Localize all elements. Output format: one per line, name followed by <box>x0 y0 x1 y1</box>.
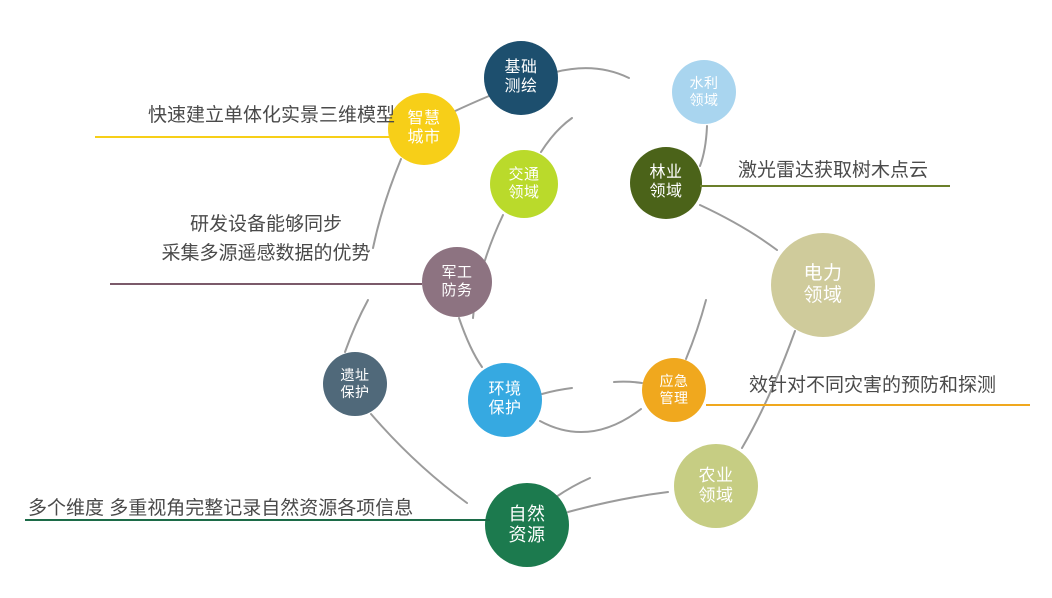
arc-env-right <box>542 388 572 394</box>
callout-text-line: 激光雷达获取树木点云 <box>738 156 928 185</box>
arc-transport-to-basic <box>541 118 572 152</box>
arc-basic-to-smartcity <box>453 96 489 112</box>
node-natural-resources[interactable]: 自然资源 <box>485 483 569 567</box>
arc-forestry-to-power <box>700 205 777 250</box>
arc-emergency-up <box>686 300 706 359</box>
diagram-canvas: 基础测绘水利领域智慧城市交通领域林业领域电力领域军工防务遗址保护环境保护应急管理… <box>0 0 1052 598</box>
natural-resources-callout-rule <box>25 519 490 521</box>
node-label-line: 领域 <box>690 92 719 109</box>
node-label-line: 领域 <box>649 183 682 202</box>
node-label-line: 测绘 <box>504 78 537 97</box>
node-label-line: 环境 <box>488 381 521 400</box>
node-label-line: 领域 <box>699 486 734 506</box>
arc-water-to-forestry <box>700 126 707 166</box>
callout-text-line: 效针对不同灾害的预防和探测 <box>749 371 996 400</box>
smart-city-callout-rule <box>95 136 395 138</box>
node-label-line: 交通 <box>508 166 539 184</box>
military-defense-callout-rule <box>110 283 422 285</box>
forestry-callout-rule <box>700 185 950 187</box>
callout-text-line: 快速建立单体化实景三维模型 <box>95 101 395 130</box>
node-power[interactable]: 电力领域 <box>771 233 875 337</box>
node-smart-city[interactable]: 智慧城市 <box>388 93 460 165</box>
node-label-line: 管理 <box>660 390 689 407</box>
callout-text-line: 研发设备能够同步 <box>110 210 422 239</box>
node-label-line: 农业 <box>699 466 734 486</box>
arc-heritage-to-natres <box>371 414 467 503</box>
node-label-line: 自然 <box>509 504 546 525</box>
arc-natres-up-right <box>556 478 590 497</box>
arc-basic-to-water <box>556 68 629 78</box>
node-label-line: 领域 <box>508 184 539 202</box>
node-label-line: 水利 <box>690 75 719 92</box>
node-label-line: 智慧 <box>407 110 440 129</box>
node-water-conservancy[interactable]: 水利领域 <box>672 60 736 124</box>
node-label-line: 遗址 <box>341 367 370 384</box>
node-environment-protection[interactable]: 环境保护 <box>468 363 542 437</box>
arc-military-to-env <box>459 318 482 367</box>
node-label-line: 基础 <box>504 59 537 78</box>
node-agriculture[interactable]: 农业领域 <box>674 444 758 528</box>
smart-city-callout: 快速建立单体化实景三维模型 <box>95 101 395 130</box>
node-label-line: 应急 <box>660 373 689 390</box>
node-label-line: 保护 <box>488 400 521 419</box>
arc-heritage-up <box>345 300 368 352</box>
node-basic-surveying[interactable]: 基础测绘 <box>484 41 558 115</box>
node-label-line: 电力 <box>803 263 842 285</box>
node-label-line: 保护 <box>341 384 370 401</box>
arc-natres-to-agri <box>568 492 668 512</box>
node-military-defense[interactable]: 军工防务 <box>422 247 492 317</box>
military-defense-callout: 研发设备能够同步采集多源遥感数据的优势 <box>110 210 422 269</box>
emergency-callout-rule <box>706 404 1030 406</box>
node-label-line: 林业 <box>649 164 682 183</box>
callout-text-line: 采集多源遥感数据的优势 <box>110 239 422 268</box>
emergency-callout: 效针对不同灾害的预防和探测 <box>749 371 996 400</box>
node-heritage-protection[interactable]: 遗址保护 <box>323 352 387 416</box>
forestry-callout: 激光雷达获取树木点云 <box>738 156 928 185</box>
node-label-line: 资源 <box>509 525 546 546</box>
node-label-line: 领域 <box>803 285 842 307</box>
node-label-line: 防务 <box>441 282 472 300</box>
node-forestry[interactable]: 林业领域 <box>630 147 702 219</box>
node-label-line: 城市 <box>407 129 440 148</box>
node-label-line: 军工 <box>441 264 472 282</box>
node-emergency-management[interactable]: 应急管理 <box>642 358 706 422</box>
node-transportation[interactable]: 交通领域 <box>490 150 558 218</box>
arc-env-to-emergency <box>540 409 641 432</box>
arc-emergency-left <box>614 382 642 383</box>
